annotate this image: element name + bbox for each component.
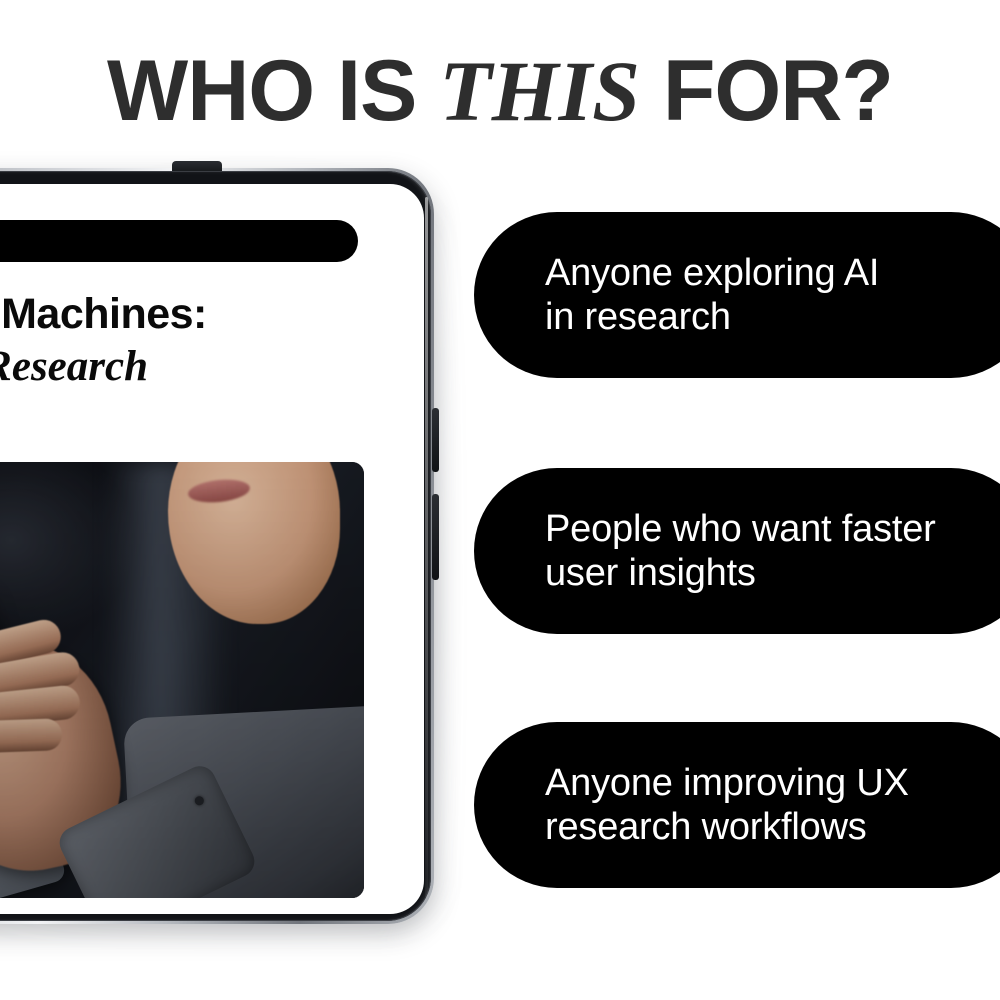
device-screen: Minds And Machines: AI In User Research [0,184,424,914]
page-title: WHO IS THIS FOR? [0,46,1000,136]
article-top-bar [0,220,358,262]
article-title-line-2: AI In User Research [0,340,366,393]
page-title-part-1: WHO IS [107,43,439,139]
volume-button[interactable] [432,408,439,472]
article-title: Minds And Machines: AI In User Research [0,288,366,394]
article-title-line-2-emphasis: Research [0,343,148,390]
page-title-part-2: FOR? [640,43,893,139]
slide-canvas: WHO IS THIS FOR? Minds And Machines: AI … [0,0,1000,1000]
list-item-label: Anyone exploring AI in research [474,251,903,339]
article-hero-photo [0,462,364,898]
power-button[interactable] [432,494,439,580]
page-title-emphasis: THIS [439,43,640,139]
article-title-line-1: Minds And Machines: [0,288,366,340]
list-item[interactable]: Anyone improving UX research workflows [474,722,1000,888]
device-bezel: Minds And Machines: AI In User Research [0,171,431,921]
list-item-label: Anyone improving UX research workflows [474,761,933,849]
list-item[interactable]: People who want faster user insights [474,468,1000,634]
list-item[interactable]: Anyone exploring AI in research [474,212,1000,378]
device-frame: Minds And Machines: AI In User Research [0,168,434,924]
photo-vignette [0,462,364,898]
device-mockup: Minds And Machines: AI In User Research [0,168,440,928]
list-item-label: People who want faster user insights [474,507,960,595]
